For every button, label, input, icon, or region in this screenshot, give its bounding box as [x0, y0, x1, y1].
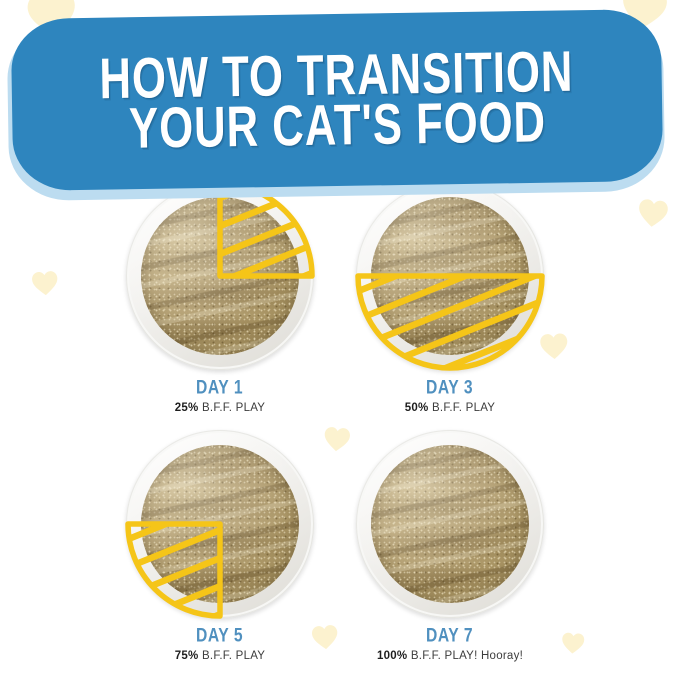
transition-step: DAY 7100% B.F.F. PLAY! Hooray!	[320, 430, 580, 664]
percentage-product-name: B.F.F. PLAY	[429, 402, 496, 414]
bowl-day-5	[126, 430, 314, 618]
bowl-day-1	[126, 182, 314, 370]
percentage-label: 50% B.F.F. PLAY	[320, 402, 580, 416]
bowl-rim	[359, 185, 541, 367]
page-title: HOW TO TRANSITION YOUR CAT'S FOOD	[11, 9, 664, 191]
day-label-text: DAY 5	[196, 626, 243, 647]
cat-food-bowl-image	[356, 182, 544, 370]
cat-food-bowl-image	[126, 182, 314, 370]
page-title-line-2: YOUR CAT'S FOOD	[128, 92, 546, 158]
transition-step: DAY 575% B.F.F. PLAY	[90, 430, 350, 664]
transition-step: DAY 350% B.F.F. PLAY	[320, 182, 580, 416]
percentage-label: 75% B.F.F. PLAY	[90, 650, 350, 664]
day-label-text: DAY 7	[426, 626, 473, 647]
infographic-root: HOW TO TRANSITION YOUR CAT'S FOOD DAY 12…	[0, 0, 679, 673]
percentage-product-name: B.F.F. PLAY!	[407, 650, 477, 662]
bowl-day-3	[356, 182, 544, 370]
bowl-rim	[129, 433, 311, 615]
header-banner: HOW TO TRANSITION YOUR CAT'S FOOD	[8, 14, 664, 196]
pate-food	[371, 197, 529, 355]
percentage-value: 75%	[175, 650, 199, 662]
hooray-text: Hooray!	[478, 650, 523, 662]
percentage-label: 100% B.F.F. PLAY! Hooray!	[320, 650, 580, 664]
day-label: DAY 1	[90, 379, 350, 398]
pate-food	[371, 445, 529, 603]
bowl-rim	[359, 433, 541, 615]
day-label: DAY 7	[320, 627, 580, 646]
day-label-text: DAY 3	[426, 378, 473, 399]
day-label: DAY 5	[90, 627, 350, 646]
percentage-product-name: B.F.F. PLAY	[199, 650, 266, 662]
bowl-caption: DAY 125% B.F.F. PLAY	[90, 379, 350, 416]
bowl-day-7	[356, 430, 544, 618]
percentage-value: 50%	[405, 402, 429, 414]
percentage-label: 25% B.F.F. PLAY	[90, 402, 350, 416]
pate-food	[141, 197, 299, 355]
transition-steps-grid: DAY 125% B.F.F. PLAYDAY 350% B.F.F. PLAY…	[0, 182, 679, 673]
percentage-product-name: B.F.F. PLAY	[199, 402, 266, 414]
cat-food-bowl-image	[126, 430, 314, 618]
bowl-rim	[129, 185, 311, 367]
percentage-value: 100%	[377, 650, 407, 662]
bowl-caption: DAY 575% B.F.F. PLAY	[90, 627, 350, 664]
transition-step: DAY 125% B.F.F. PLAY	[90, 182, 350, 416]
pate-food	[141, 445, 299, 603]
percentage-value: 25%	[175, 402, 199, 414]
day-label: DAY 3	[320, 379, 580, 398]
bowl-caption: DAY 7100% B.F.F. PLAY! Hooray!	[320, 627, 580, 664]
bowl-caption: DAY 350% B.F.F. PLAY	[320, 379, 580, 416]
day-label-text: DAY 1	[196, 378, 243, 399]
cat-food-bowl-image	[356, 430, 544, 618]
